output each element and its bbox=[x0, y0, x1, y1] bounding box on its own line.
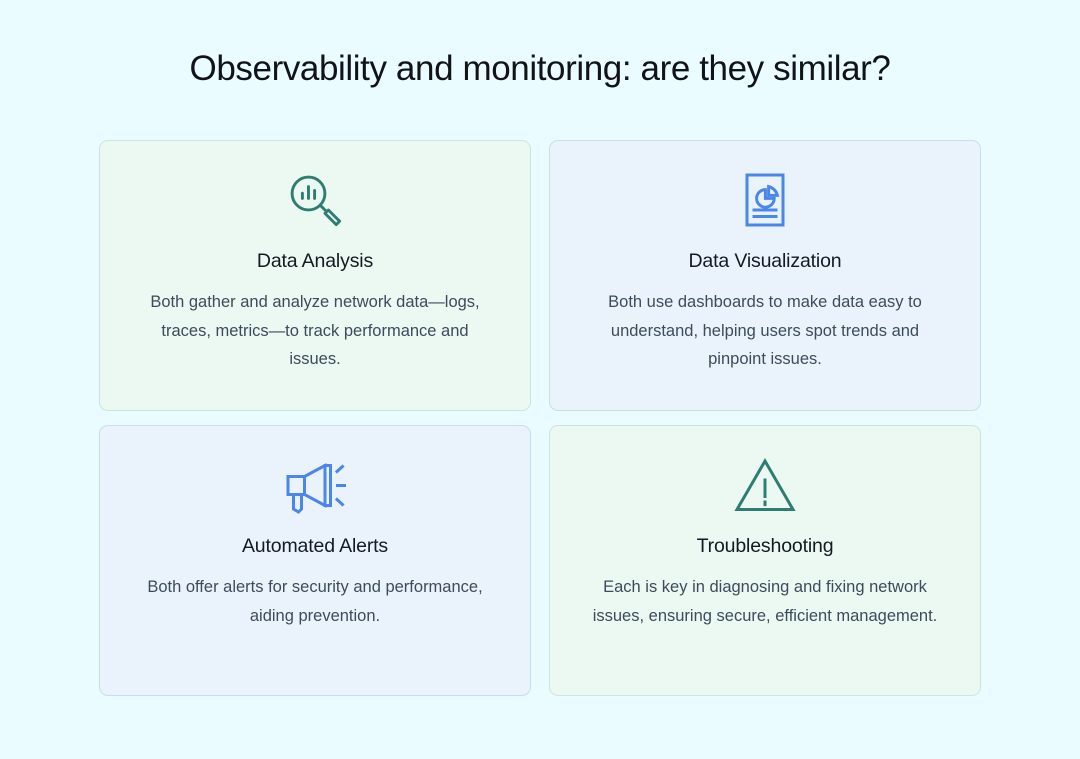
card-automated-alerts: Automated Alerts Both offer alerts for s… bbox=[99, 425, 531, 696]
magnifier-bar-chart-icon bbox=[284, 169, 346, 231]
card-title: Troubleshooting bbox=[697, 534, 834, 559]
card-troubleshooting: Troubleshooting Each is key in diagnosin… bbox=[549, 425, 981, 696]
infographic-page: Observability and monitoring: are they s… bbox=[0, 0, 1080, 759]
warning-triangle-icon bbox=[734, 454, 796, 516]
megaphone-icon bbox=[284, 454, 346, 516]
card-body-text: Both gather and analyze network data—log… bbox=[135, 288, 495, 373]
card-data-visualization: Data Visualization Both use dashboards t… bbox=[549, 140, 981, 411]
document-pie-chart-icon bbox=[734, 169, 796, 231]
card-body-text: Both offer alerts for security and perfo… bbox=[135, 573, 495, 630]
card-title: Automated Alerts bbox=[242, 534, 388, 559]
card-body-text: Both use dashboards to make data easy to… bbox=[585, 288, 945, 373]
card-body-text: Each is key in diagnosing and fixing net… bbox=[585, 573, 945, 630]
card-title: Data Analysis bbox=[257, 249, 373, 274]
card-data-analysis: Data Analysis Both gather and analyze ne… bbox=[99, 140, 531, 411]
comparison-card-grid: Data Analysis Both gather and analyze ne… bbox=[99, 140, 981, 696]
page-title: Observability and monitoring: are they s… bbox=[0, 47, 1080, 91]
card-title: Data Visualization bbox=[688, 249, 841, 274]
